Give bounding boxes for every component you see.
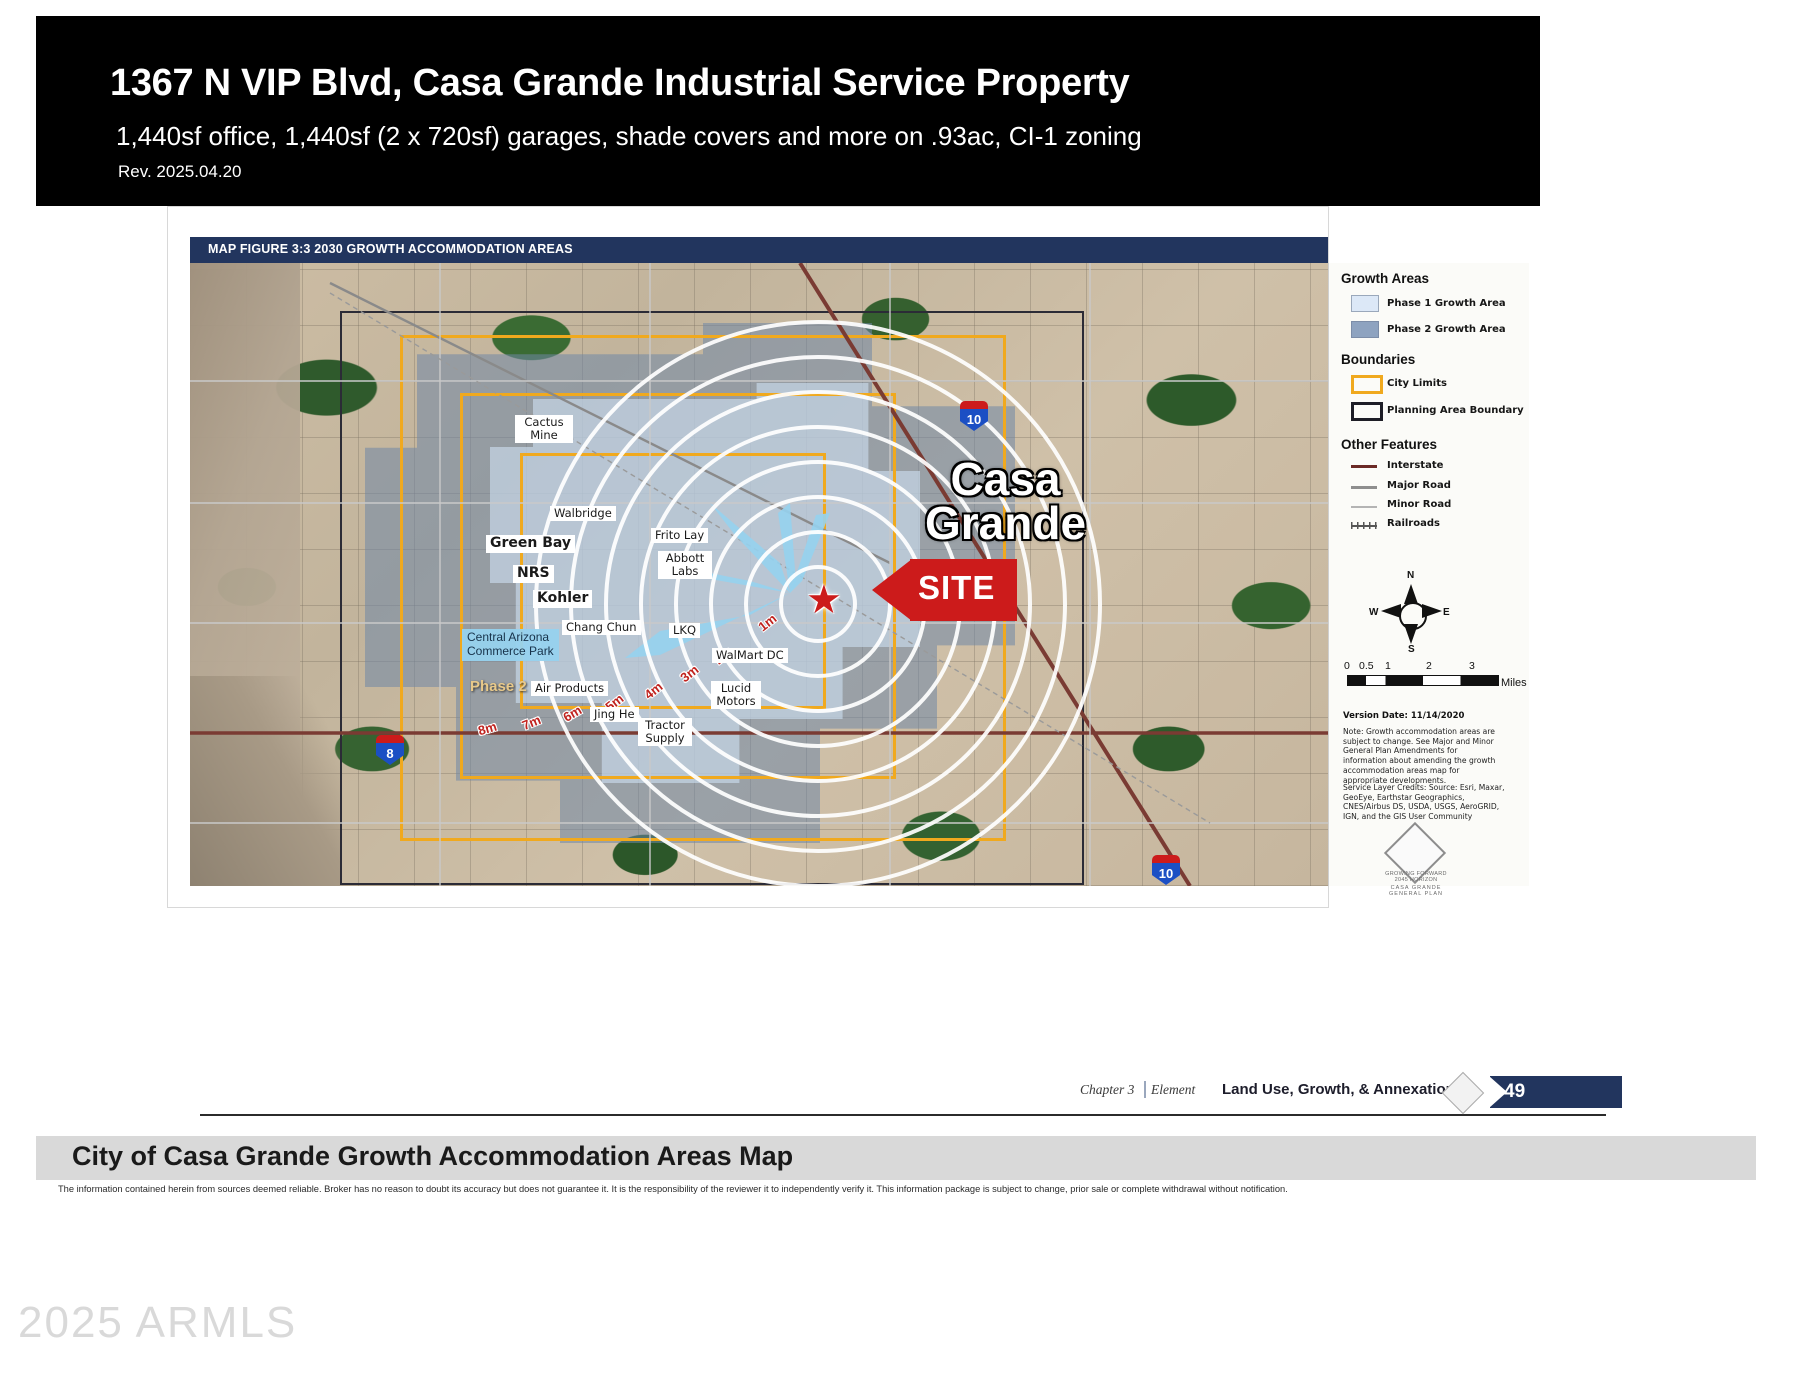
compass-label-s: S: [1408, 644, 1415, 655]
interstate-shield-10-south: 10: [1152, 855, 1180, 885]
shield-number: 10: [960, 412, 988, 427]
map-label-cactus-mine: Cactus Mine: [515, 415, 573, 443]
legend-line-major-road: [1351, 486, 1377, 489]
label-line-2: Labs: [672, 564, 699, 578]
compass-rose: N S W E: [1377, 578, 1447, 654]
map-label-green-bay: Green Bay: [486, 535, 575, 553]
label-line-2: Mine: [530, 428, 557, 442]
caption-title: City of Casa Grande Growth Accommodation…: [72, 1141, 793, 1172]
footer-page-badge: 49: [1490, 1076, 1622, 1108]
legend-railroad-ticks: [1351, 522, 1377, 529]
shield-number: 10: [1152, 866, 1180, 881]
map-label-central-arizona-commerce-park: Central Arizona Commerce Park: [462, 629, 559, 661]
legend-swatch-city-limits: [1351, 375, 1383, 394]
logo-text-line-2: CASA GRANDE GENERAL PLAN: [1379, 885, 1453, 897]
scale-bar: [1347, 675, 1499, 686]
general-plan-logo: GROWING FORWARD 2045 HORIZON CASA GRANDE…: [1385, 831, 1447, 881]
footer-diamond-icon: [1442, 1072, 1484, 1114]
map-label-walbridge: Walbridge: [550, 506, 616, 521]
map-label-air-products: Air Products: [531, 681, 608, 696]
compass-label-e: E: [1443, 607, 1450, 618]
map-label-chang-chun: Chang Chun: [562, 620, 641, 635]
legend-swatch-planning-area: [1351, 402, 1383, 421]
scale-tick-1: 1: [1385, 660, 1391, 672]
legend-swatch-phase-1: [1351, 295, 1379, 312]
map-label-abbott-labs: Abbott Labs: [658, 551, 712, 579]
map-document-panel: MAP FIGURE 3:3 2030 GROWTH ACCOMMODATION…: [167, 206, 1329, 908]
revision-date: Rev. 2025.04.20: [118, 162, 242, 182]
logo-text-line-1: GROWING FORWARD 2045 HORIZON: [1385, 871, 1447, 883]
page-subtitle: 1,440sf office, 1,440sf (2 x 720sf) gara…: [116, 121, 1142, 152]
map-note-text: Note: Growth accommodation areas are sub…: [1343, 727, 1503, 785]
map-canvas[interactable]: 1m 2m 3m 4m 5m 6m 7m 8m Phase 2 Casa Gra…: [190, 263, 1328, 886]
legend-label-interstate: Interstate: [1387, 460, 1443, 471]
scale-tick-0-5: 0.5: [1359, 660, 1374, 672]
shield-number: 8: [376, 746, 404, 761]
interstate-shield-8: 8: [376, 735, 404, 765]
legend-line-interstate: [1351, 465, 1377, 468]
map-label-nrs: NRS: [513, 565, 554, 583]
footer-page-number: 49: [1504, 1081, 1525, 1103]
shield-top: [960, 401, 988, 410]
map-label-tractor-supply: Tractor Supply: [638, 718, 692, 746]
legend-swatch-phase-2: [1351, 321, 1379, 338]
site-arrow-callout: SITE: [872, 559, 1017, 621]
footer-element-title: Land Use, Growth, & Annexation: [1222, 1081, 1455, 1098]
compass-circle: [1399, 602, 1427, 630]
compass-label-n: N: [1407, 570, 1414, 581]
legend-heading-other-features: Other Features: [1341, 437, 1437, 452]
header-banner: 1367 N VIP Blvd, Casa Grande Industrial …: [36, 16, 1540, 206]
map-label-frito-lay: Frito Lay: [651, 528, 708, 543]
compass-label-w: W: [1369, 607, 1378, 618]
map-figure-titlebar: MAP FIGURE 3:3 2030 GROWTH ACCOMMODATION…: [190, 237, 1328, 263]
legend-heading-boundaries: Boundaries: [1341, 352, 1415, 367]
site-arrow-label: SITE: [918, 569, 995, 607]
footer-chapter-label: Chapter 3: [1080, 1082, 1134, 1098]
scale-tick-2: 2: [1426, 660, 1432, 672]
version-date-text: Version Date: 11/14/2020: [1343, 711, 1464, 721]
footer-separator: [1144, 1081, 1146, 1098]
compass-needle-west: [1381, 604, 1401, 618]
map-label-walmart-dc: WalMart DC: [712, 648, 788, 663]
map-legend-panel: Growth Areas Phase 1 Growth Area Phase 2…: [1328, 263, 1529, 886]
label-line-2: Commerce Park: [467, 644, 554, 658]
label-line-2: Motors: [716, 694, 755, 708]
disclaimer-text: The information contained herein from so…: [58, 1184, 1758, 1194]
footer-element-word: Element: [1151, 1082, 1195, 1098]
map-label-lucid-motors: Lucid Motors: [711, 681, 761, 709]
compass-needle-north: [1404, 584, 1418, 604]
legend-heading-growth-areas: Growth Areas: [1341, 271, 1429, 286]
document-footer: Chapter 3 Element Land Use, Growth, & An…: [200, 1078, 1606, 1120]
label-line-2: Supply: [645, 731, 684, 745]
legend-label-planning-area: Planning Area Boundary: [1387, 405, 1524, 416]
shield-top: [376, 735, 404, 744]
map-figure-title: MAP FIGURE 3:3 2030 GROWTH ACCOMMODATION…: [208, 242, 573, 256]
page-title: 1367 N VIP Blvd, Casa Grande Industrial …: [110, 62, 1130, 105]
scale-tick-0: 0: [1344, 660, 1350, 672]
legend-line-minor-road: [1351, 506, 1377, 508]
legend-label-railroads: Railroads: [1387, 518, 1440, 529]
map-label-jing-he: Jing He: [590, 707, 639, 722]
site-arrow-tip: [872, 559, 912, 621]
phase-2-map-label: Phase 2: [470, 678, 527, 695]
legend-label-major-road: Major Road: [1387, 480, 1451, 491]
city-name-line1: Casa: [925, 458, 1086, 502]
scale-tick-3: 3: [1469, 660, 1475, 672]
footer-divider-rule: [200, 1114, 1606, 1116]
site-star-marker: ★: [806, 585, 840, 619]
legend-label-phase-1: Phase 1 Growth Area: [1387, 298, 1506, 309]
interstate-shield-10-north: 10: [960, 401, 988, 431]
service-layer-credits-text: Service Layer Credits: Source: Esri, Max…: [1343, 783, 1508, 822]
map-label-lkq: LKQ: [669, 623, 700, 638]
legend-label-city-limits: City Limits: [1387, 378, 1447, 389]
map-label-kohler: Kohler: [533, 590, 592, 608]
legend-label-minor-road: Minor Road: [1387, 499, 1451, 510]
label-line-1: Central Arizona: [467, 630, 549, 644]
shield-top: [1152, 855, 1180, 864]
legend-label-phase-2: Phase 2 Growth Area: [1387, 324, 1506, 335]
city-name-label: Casa Grande: [925, 458, 1086, 545]
armls-watermark: 2025 ARMLS: [18, 1298, 297, 1348]
scale-units-label: Miles: [1501, 677, 1527, 689]
city-name-line2: Grande: [925, 502, 1086, 546]
